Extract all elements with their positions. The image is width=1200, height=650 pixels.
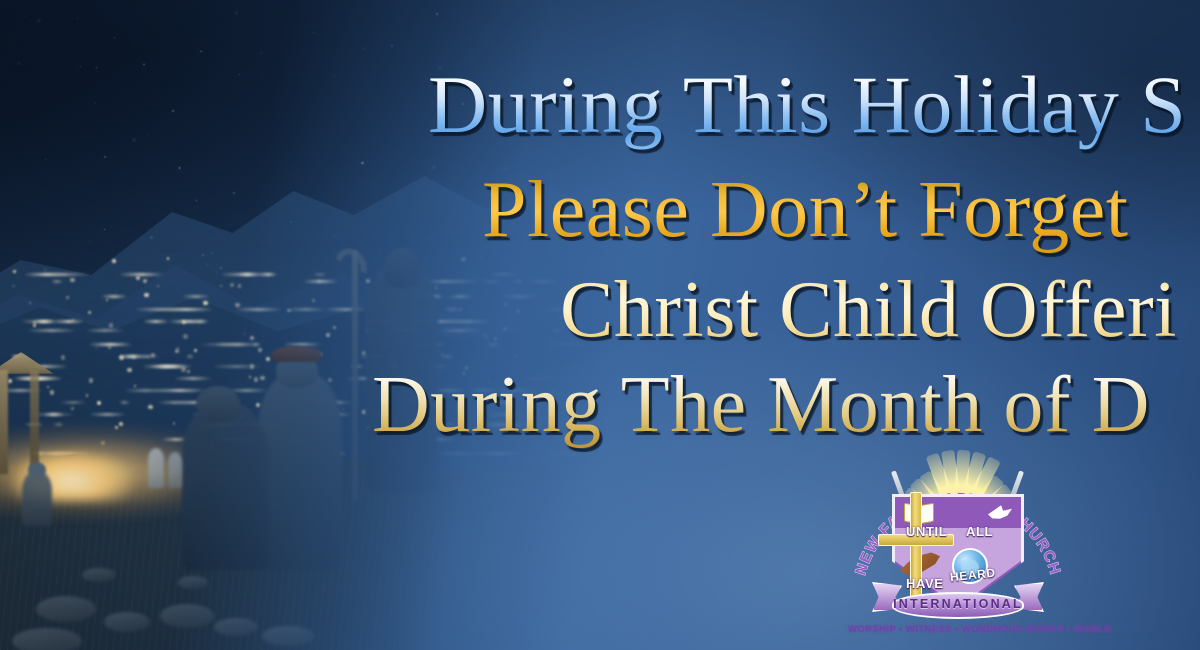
ribbon-label: INTERNATIONAL: [892, 597, 1024, 611]
ribbon-banner: INTERNATIONAL: [878, 588, 1038, 622]
logo-tagline: WORSHIP • WITNESS • WONDROUS WORKS • WOR…: [848, 624, 1068, 635]
shield-word-until: UNTIL: [906, 524, 947, 539]
church-logo[interactable]: NEW FAITH BAPTIST CHURCH UNTIL ALL HAVE …: [848, 448, 1068, 650]
holiday-offering-banner: During This Holiday S During This Holida…: [0, 0, 1200, 650]
shield-word-all: ALL: [966, 524, 993, 539]
